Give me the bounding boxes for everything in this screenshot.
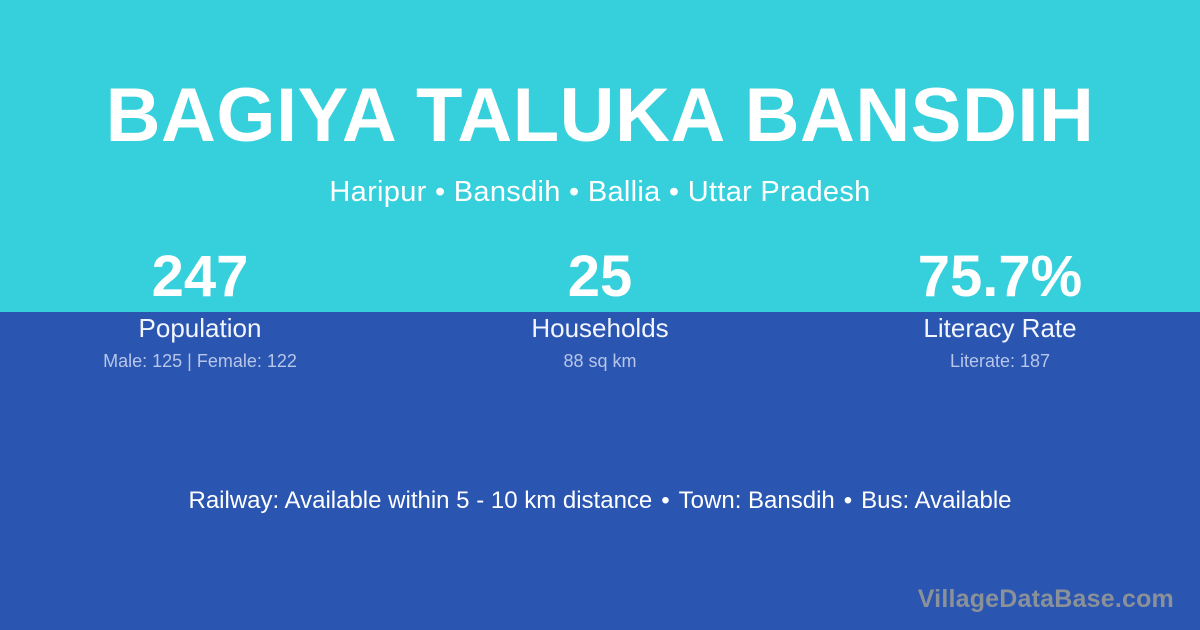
facility-bus: Bus: Available [861, 487, 1011, 514]
stats-row: 247 Population Male: 125 | Female: 122 2… [0, 244, 1200, 372]
stat-label-population: Population [0, 312, 400, 344]
stat-value-population: 247 [0, 244, 400, 310]
title-block: BAGIYA TALUKA BANSDIH Haripur • Bansdih … [0, 0, 1200, 209]
stat-literacy-rate: 75.7% Literacy Rate Literate: 187 [800, 244, 1200, 372]
site-branding: VillageDataBase.com [918, 585, 1174, 614]
page-title: BAGIYA TALUKA BANSDIH [0, 78, 1200, 154]
facility-separator-2: • [835, 486, 861, 516]
facility-separator-1: • [652, 486, 678, 516]
stat-value-literacy-rate: 75.7% [800, 244, 1200, 310]
stat-households: 25 Households 88 sq km [400, 244, 800, 372]
stat-sub-households: 88 sq km [400, 350, 800, 372]
facility-railway: Railway: Available within 5 - 10 km dist… [188, 487, 652, 514]
breadcrumb: Haripur • Bansdih • Ballia • Uttar Prade… [0, 176, 1200, 209]
stat-label-literacy-rate: Literacy Rate [800, 312, 1200, 344]
stat-value-households: 25 [400, 244, 800, 310]
stat-sub-population: Male: 125 | Female: 122 [0, 350, 400, 372]
stat-label-households: Households [400, 312, 800, 344]
stat-sub-literacy-rate: Literate: 187 [800, 350, 1200, 372]
stat-population: 247 Population Male: 125 | Female: 122 [0, 244, 400, 372]
facility-town: Town: Bansdih [679, 487, 835, 514]
facilities-line: Railway: Available within 5 - 10 km dist… [0, 486, 1200, 516]
village-info-card: BAGIYA TALUKA BANSDIH Haripur • Bansdih … [0, 0, 1200, 630]
